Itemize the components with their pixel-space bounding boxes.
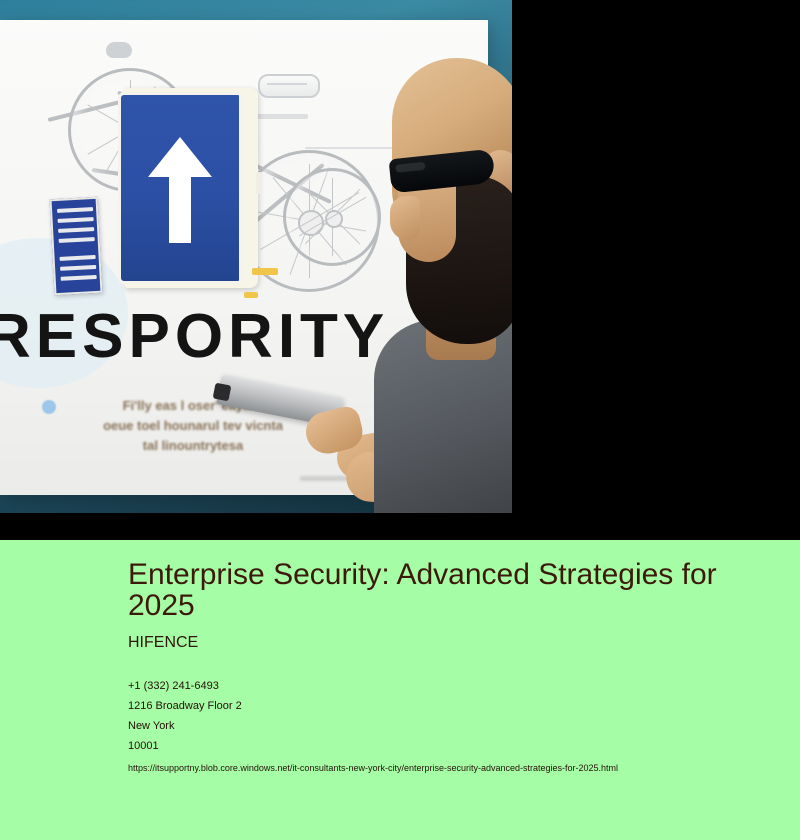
page-url[interactable]: https://itsupportny.blob.core.windows.ne… [128, 762, 728, 775]
hero-caption-line: oeue toel hounarul tev vicnta [76, 416, 310, 436]
contact-city: New York [128, 716, 728, 736]
bicycle-saddle [106, 42, 132, 58]
caption-bullet-dot [42, 400, 56, 414]
contact-phone[interactable]: +1 (332) 241-6493 [128, 676, 728, 696]
page-title: Enterprise Security: Advanced Strategies… [128, 560, 728, 622]
up-arrow-stem [169, 177, 191, 243]
hero-band: RESPORITY Fi'lly eas l oser"eayaro oeue … [0, 0, 800, 540]
handlebar-pill-shape [258, 74, 320, 98]
yellow-accent-shape [252, 268, 278, 275]
person-portrait [380, 58, 512, 513]
contact-details-list: +1 (332) 241-6493 1216 Broadway Floor 2 … [128, 676, 728, 756]
article-content: Enterprise Security: Advanced Strategies… [128, 560, 728, 775]
up-arrow-icon [148, 137, 212, 177]
company-name: HIFENCE [128, 633, 728, 652]
contact-postal-code: 10001 [128, 736, 728, 756]
hero-caption-line: tal linountrytesa [76, 436, 310, 456]
book-edge-tab [256, 172, 262, 194]
bicycle-wheel-icon [283, 168, 381, 266]
article-hero-image: RESPORITY Fi'lly eas l oser"eayaro oeue … [0, 0, 512, 513]
contact-street: 1216 Broadway Floor 2 [128, 696, 728, 716]
blue-striped-folder [50, 197, 103, 295]
book-cover [118, 92, 242, 284]
person-nose [390, 196, 420, 240]
tablet-corner [213, 383, 232, 402]
yellow-accent-shape [244, 292, 258, 298]
board-rule-line [252, 114, 308, 119]
article-content-band: Enterprise Security: Advanced Strategies… [0, 540, 800, 840]
blue-book-up-arrow-sign [118, 88, 258, 288]
